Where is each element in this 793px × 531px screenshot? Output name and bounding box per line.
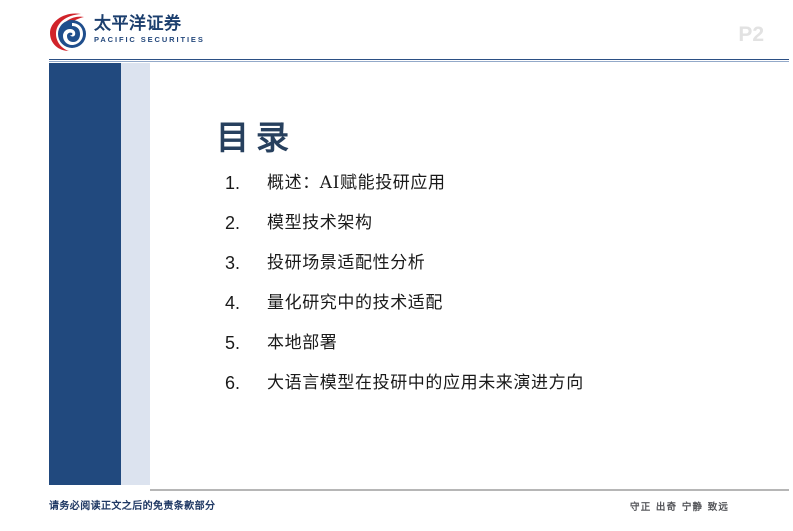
slide-title: 目录: [216, 111, 296, 159]
header-divider-light: [49, 61, 789, 62]
footer-disclaimer: 请务必阅读正文之后的免责条款部分: [49, 497, 215, 512]
slide-body: 目录 1. 概述：AI赋能投研应用 2. 模型技术架构 3. 投研场景适配性分析…: [150, 63, 789, 485]
toc-item-label: 大语言模型在投研中的应用未来演进方向: [267, 371, 584, 395]
toc-item-number: 4.: [225, 291, 267, 315]
list-item[interactable]: 5. 本地部署: [225, 331, 785, 371]
company-logo: 太平洋证券 PACIFIC SECURITIES: [48, 9, 188, 53]
list-item[interactable]: 4. 量化研究中的技术适配: [225, 291, 785, 331]
company-name-en: PACIFIC SECURITIES: [94, 35, 189, 45]
list-item[interactable]: 1. 概述：AI赋能投研应用: [225, 171, 785, 211]
sidebar-accent-light: [121, 63, 150, 485]
sidebar-accent-dark: [49, 63, 121, 485]
list-item[interactable]: 2. 模型技术架构: [225, 211, 785, 251]
company-name-cn: 太平洋证券: [94, 15, 189, 34]
toc-item-number: 5.: [225, 331, 267, 355]
toc-item-label: 投研场景适配性分析: [267, 251, 425, 275]
list-item[interactable]: 3. 投研场景适配性分析: [225, 251, 785, 291]
toc-item-number: 2.: [225, 211, 267, 235]
toc-item-number: 3.: [225, 251, 267, 275]
page-number: P2: [738, 23, 764, 47]
table-of-contents-list: 1. 概述：AI赋能投研应用 2. 模型技术架构 3. 投研场景适配性分析 4.…: [225, 171, 785, 411]
company-logo-text: 太平洋证券 PACIFIC SECURITIES: [94, 15, 189, 45]
toc-item-number: 6.: [225, 371, 267, 395]
slide-header: 太平洋证券 PACIFIC SECURITIES P2: [0, 0, 793, 58]
toc-item-label: 模型技术架构: [267, 211, 373, 235]
toc-item-label: 量化研究中的技术适配: [267, 291, 443, 315]
toc-item-number: 1.: [225, 171, 267, 195]
toc-item-label: 概述：AI赋能投研应用: [267, 171, 446, 195]
pacific-securities-logo-mark-icon: [48, 9, 92, 53]
footer-slogan: 守正 出奇 宁静 致远: [630, 499, 729, 513]
toc-item-label: 本地部署: [267, 331, 337, 355]
header-divider-dark: [49, 59, 789, 60]
list-item[interactable]: 6. 大语言模型在投研中的应用未来演进方向: [225, 371, 785, 411]
footer-divider: [150, 489, 789, 491]
presentation-slide: 太平洋证券 PACIFIC SECURITIES P2 目录 1. 概述：AI赋…: [0, 0, 793, 531]
